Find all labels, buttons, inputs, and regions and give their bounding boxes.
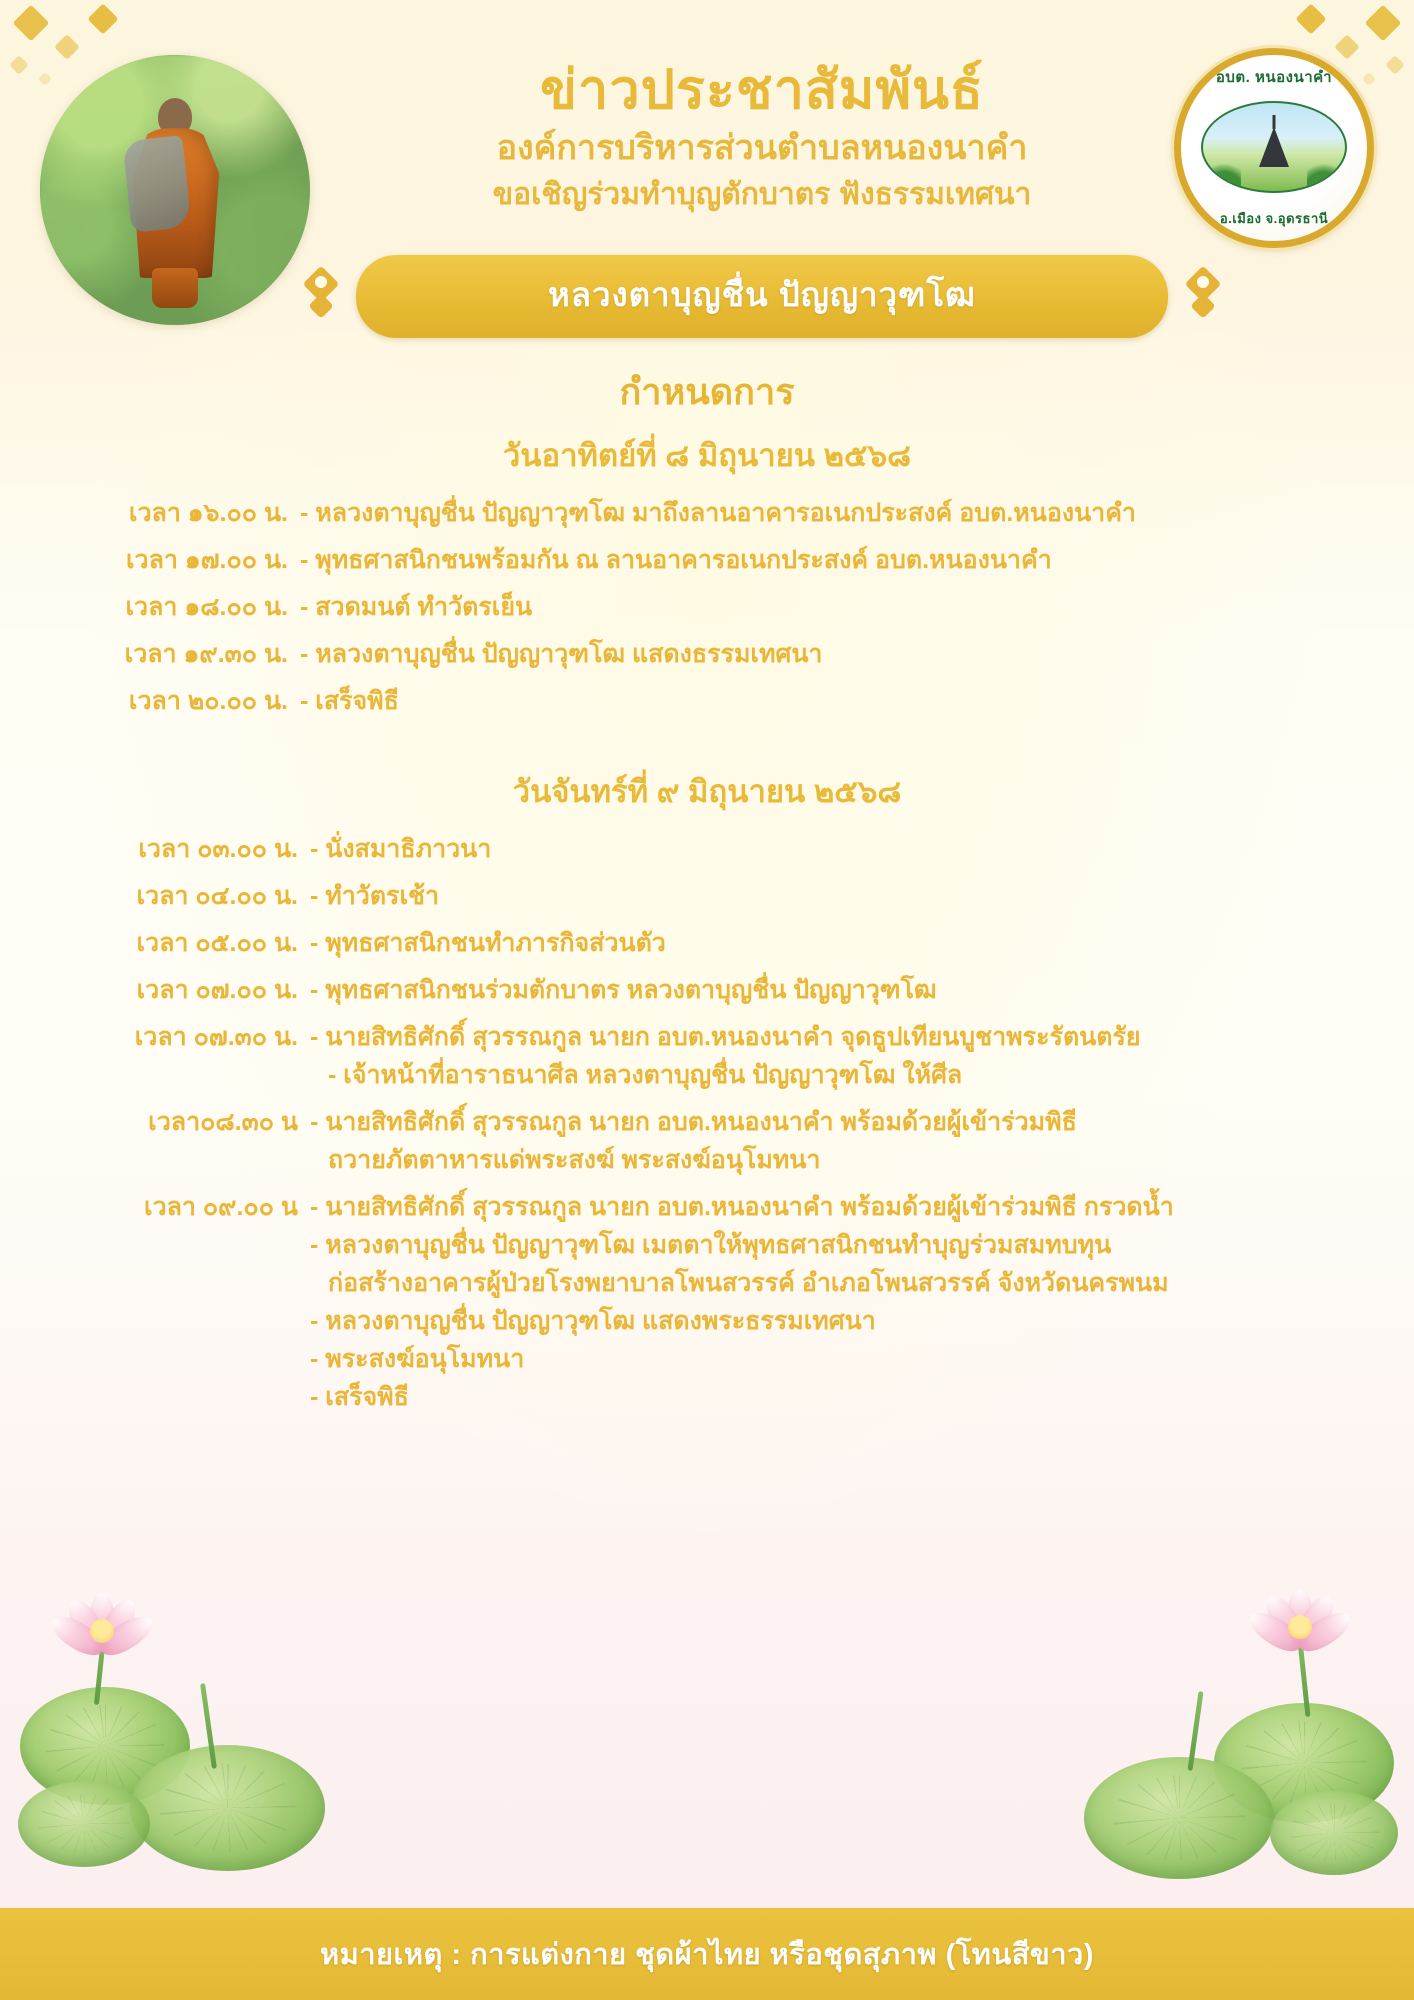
day-2-heading: วันจันทร์ที่ ๙ มิถุนายน ๒๕๖๘ [60, 766, 1354, 816]
schedule-line: - นายสิทธิศักดิ์ สุวรรณกูล นายก อบต.หนอง… [310, 1188, 1354, 1226]
schedule-time: เวลา ๐๙.๐๐ น [60, 1188, 310, 1226]
organization-name: องค์การบริหารส่วนตำบลหนองนาคำ [300, 126, 1224, 172]
schedule-row: เวลา ๑๖.๐๐ น. - หลวงตาบุญชื่น ปัญญาวุฑโฒ… [60, 494, 1354, 532]
ornament-diamond-left-icon [300, 267, 342, 327]
poster-header: ข่าวประชาสัมพันธ์ องค์การบริหารส่วนตำบลห… [0, 0, 1414, 345]
schedule-time: เวลา ๐๔.๐๐ น. [60, 877, 310, 915]
schedule-time: เวลา ๐๗.๐๐ น. [60, 971, 310, 1009]
schedule-line: ก่อสร้างอาคารผู้ป่วยโรงพยาบาลโพนสวรรค์ อ… [310, 1264, 1354, 1302]
schedule-desc: - พุทธศาสนิกชนทำภารกิจส่วนตัว [310, 924, 1354, 962]
schedule-time: เวลา ๑๘.๐๐ น. [60, 588, 300, 626]
schedule-time: เวลา ๐๓.๐๐ น. [60, 830, 310, 868]
schedule-time: เวลา ๑๙.๓๐ น. [60, 635, 300, 673]
header-text-block: ข่าวประชาสัมพันธ์ องค์การบริหารส่วนตำบลห… [300, 60, 1224, 216]
schedule-desc: - หลวงตาบุญชื่น ปัญญาวุฑโฒ แสดงธรรมเทศนา [300, 635, 1354, 673]
schedule-row: เวลา ๐๕.๐๐ น. - พุทธศาสนิกชนทำภารกิจส่วน… [60, 924, 1354, 962]
schedule-row: เวลา ๒๐.๐๐ น. - เสร็จพิธี [60, 682, 1354, 720]
invitation-line: ขอเชิญร่วมทำบุญตักบาตร ฟังธรรมเทศนา [300, 175, 1224, 216]
page-title: ข่าวประชาสัมพันธ์ [300, 60, 1224, 122]
agenda-day-1: วันอาทิตย์ที่ ๘ มิถุนายน ๒๕๖๘ เวลา ๑๖.๐๐… [60, 430, 1354, 720]
footer-divider [0, 1894, 1414, 1908]
schedule-line: - หลวงตาบุญชื่น ปัญญาวุฑโฒ แสดงพระธรรมเท… [310, 1302, 1354, 1340]
schedule-line: - นายสิทธิศักดิ์ สุวรรณกูล นายก อบต.หนอง… [310, 1018, 1354, 1056]
schedule-desc: - นายสิทธิศักดิ์ สุวรรณกูล นายก อบต.หนอง… [310, 1188, 1354, 1416]
schedule-desc: - นายสิทธิศักดิ์ สุวรรณกูล นายก อบต.หนอง… [310, 1103, 1354, 1179]
schedule-row: เวลา ๐๗.๓๐ น. - นายสิทธิศักดิ์ สุวรรณกูล… [60, 1018, 1354, 1094]
schedule-line: - หลวงตาบุญชื่น ปัญญาวุฑโฒ แสดงธรรมเทศนา [300, 635, 1354, 673]
schedule-row: เวลา ๑๘.๐๐ น. - สวดมนต์ ทำวัตรเย็น [60, 588, 1354, 626]
schedule-line: - เจ้าหน้าที่อาราธนาศีล หลวงตาบุญชื่น ปั… [310, 1056, 1354, 1094]
schedule-line: - พุทธศาสนิกชนร่วมตักบาตร หลวงตาบุญชื่น … [310, 971, 1354, 1009]
day-1-heading: วันอาทิตย์ที่ ๘ มิถุนายน ๒๕๖๘ [60, 430, 1354, 480]
schedule-line: - พระสงฆ์อนุโมทนา [310, 1340, 1354, 1378]
seal-top-text: อบต. หนองนาคำ [1181, 65, 1367, 89]
schedule-row: เวลา ๐๙.๐๐ น - นายสิทธิศักดิ์ สุวรรณกูล … [60, 1188, 1354, 1416]
footer-note-bar: หมายเหตุ : การแต่งกาย ชุดผ้าไทย หรือชุดส… [0, 1908, 1414, 2000]
schedule-line: - เสร็จพิธี [310, 1378, 1354, 1416]
schedule-row: เวลา ๐๗.๐๐ น. - พุทธศาสนิกชนร่วมตักบาตร … [60, 971, 1354, 1009]
schedule-line: - พุทธศาสนิกชนพร้อมกัน ณ ลานอาคารอเนกประ… [300, 541, 1354, 579]
schedule-line: - เสร็จพิธี [300, 682, 1354, 720]
schedule-time: เวลา ๐๕.๐๐ น. [60, 924, 310, 962]
monk-name-label: หลวงตาบุญชื่น ปัญญาวุฑโฒ [548, 276, 976, 313]
schedule-line: - สวดมนต์ ทำวัตรเย็น [300, 588, 1354, 626]
schedule-line: - นั่งสมาธิภาวนา [310, 830, 1354, 868]
poster-canvas: ข่าวประชาสัมพันธ์ องค์การบริหารส่วนตำบลห… [0, 0, 1414, 2000]
schedule-time: เวลา ๐๗.๓๐ น. [60, 1018, 310, 1056]
schedule-row: เวลา ๑๙.๓๐ น. - หลวงตาบุญชื่น ปัญญาวุฑโฒ… [60, 635, 1354, 673]
ornament-diamond-right-icon [1182, 267, 1224, 327]
schedule-row: เวลา๐๘.๓๐ น - นายสิทธิศักดิ์ สุวรรณกูล น… [60, 1103, 1354, 1179]
lotus-decoration-left-icon [10, 1535, 340, 1865]
seal-inner-scene [1201, 101, 1347, 193]
monk-name-banner: หลวงตาบุญชื่น ปัญญาวุฑโฒ [300, 255, 1224, 338]
agenda-section: กำหนดการ วันอาทิตย์ที่ ๘ มิถุนายน ๒๕๖๘ เ… [0, 363, 1414, 1416]
schedule-line: - นายสิทธิศักดิ์ สุวรรณกูล นายก อบต.หนอง… [310, 1103, 1354, 1141]
agenda-title: กำหนดการ [60, 363, 1354, 420]
schedule-desc: - ทำวัตรเช้า [310, 877, 1354, 915]
schedule-desc: - พุทธศาสนิกชนพร้อมกัน ณ ลานอาคารอเนกประ… [300, 541, 1354, 579]
schedule-row: เวลา ๐๓.๐๐ น. - นั่งสมาธิภาวนา [60, 830, 1354, 868]
government-seal-icon: อบต. หนองนาคำ อ.เมือง จ.อุดรธานี [1174, 48, 1374, 248]
schedule-row: เวลา ๑๗.๐๐ น. - พุทธศาสนิกชนพร้อมกัน ณ ล… [60, 541, 1354, 579]
schedule-line: ถวายภัตตาหารแด่พระสงฆ์ พระสงฆ์อนุโมทนา [310, 1141, 1354, 1179]
schedule-desc: - นั่งสมาธิภาวนา [310, 830, 1354, 868]
agenda-day-2: วันจันทร์ที่ ๙ มิถุนายน ๒๕๖๘ เวลา ๐๓.๐๐ … [60, 766, 1354, 1416]
schedule-time: เวลา ๑๖.๐๐ น. [60, 494, 300, 532]
footer-note-text: หมายเหตุ : การแต่งกาย ชุดผ้าไทย หรือชุดส… [320, 1931, 1094, 1977]
schedule-desc: - นายสิทธิศักดิ์ สุวรรณกูล นายก อบต.หนอง… [310, 1018, 1354, 1094]
schedule-row: เวลา ๐๔.๐๐ น. - ทำวัตรเช้า [60, 877, 1354, 915]
schedule-desc: - เสร็จพิธี [300, 682, 1354, 720]
schedule-time: เวลา ๑๗.๐๐ น. [60, 541, 300, 579]
seal-bottom-text: อ.เมือง จ.อุดรธานี [1181, 208, 1367, 229]
schedule-time: เวลา๐๘.๓๐ น [60, 1103, 310, 1141]
schedule-line: - หลวงตาบุญชื่น ปัญญาวุฑโฒ มาถึงลานอาคาร… [300, 494, 1354, 532]
schedule-line: - ทำวัตรเช้า [310, 877, 1354, 915]
schedule-time: เวลา ๒๐.๐๐ น. [60, 682, 300, 720]
lotus-decoration-right-icon [1074, 1535, 1404, 1865]
monk-name-pill: หลวงตาบุญชื่น ปัญญาวุฑโฒ [356, 255, 1168, 338]
schedule-desc: - พุทธศาสนิกชนร่วมตักบาตร หลวงตาบุญชื่น … [310, 971, 1354, 1009]
schedule-desc: - หลวงตาบุญชื่น ปัญญาวุฑโฒ มาถึงลานอาคาร… [300, 494, 1354, 532]
schedule-desc: - สวดมนต์ ทำวัตรเย็น [300, 588, 1354, 626]
schedule-line: - พุทธศาสนิกชนทำภารกิจส่วนตัว [310, 924, 1354, 962]
schedule-line: - หลวงตาบุญชื่น ปัญญาวุฑโฒ เมตตาให้พุทธศ… [310, 1226, 1354, 1264]
monk-walking-photo [40, 55, 310, 325]
